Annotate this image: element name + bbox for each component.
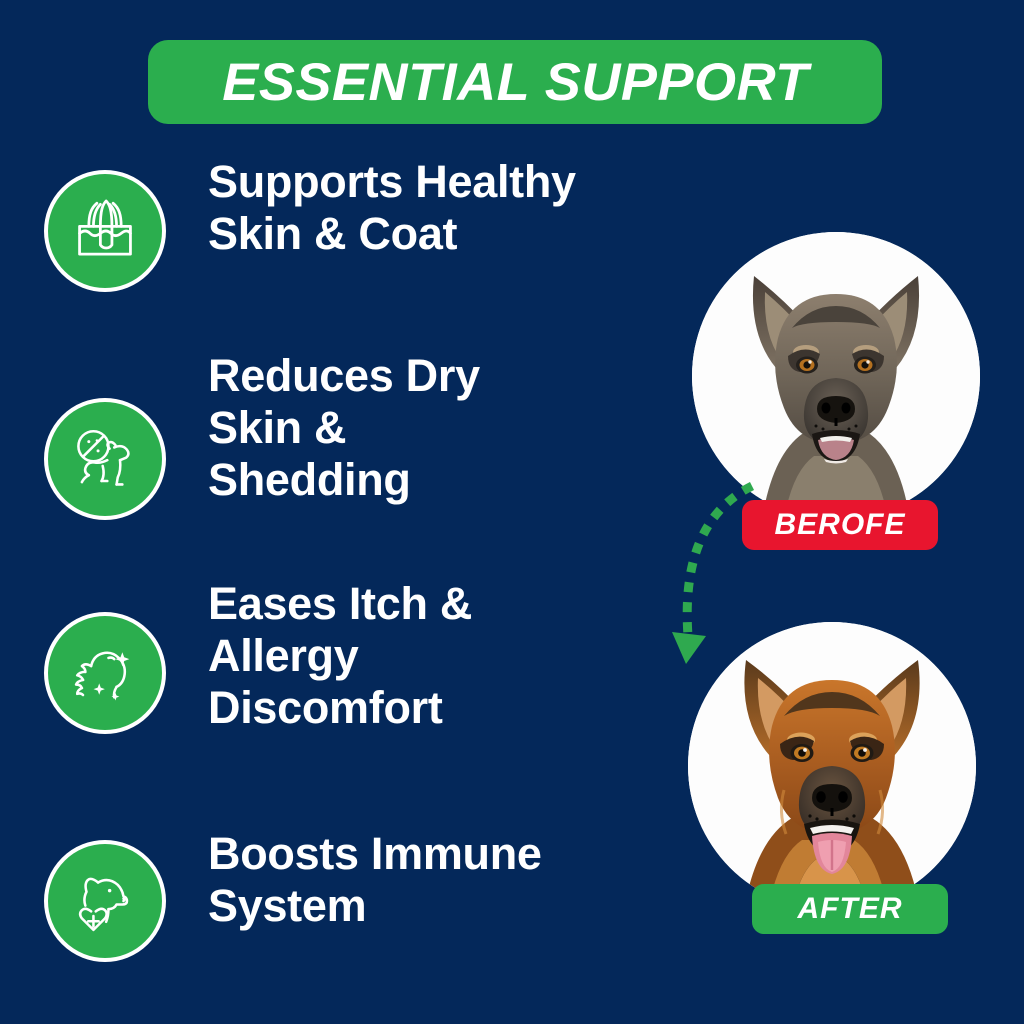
benefit-icon-wrap <box>44 170 166 292</box>
infographic-canvas: ESSENTIAL SUPPORT Supports Healthy Skin … <box>0 0 1024 1024</box>
page-title: ESSENTIAL SUPPORT <box>222 52 808 113</box>
benefit-line: Reduces Dry <box>208 350 724 402</box>
benefit-icon-wrap <box>44 398 166 520</box>
benefit-line: System <box>208 880 724 932</box>
benefit-line: Shedding <box>208 454 724 506</box>
benefit-line: Skin & <box>208 402 724 454</box>
benefit-label-skin-coat: Supports Healthy Skin & Coat <box>208 156 724 260</box>
after-badge-label: AFTER <box>798 892 903 926</box>
header-banner: ESSENTIAL SUPPORT <box>148 40 882 124</box>
benefit-line: Eases Itch & <box>208 578 724 630</box>
benefit-line: Skin & Coat <box>208 208 724 260</box>
hair-follicle-skin-icon <box>44 170 166 292</box>
benefit-line: Boosts Immune <box>208 828 724 880</box>
benefit-item-dry-skin-shedding: Reduces Dry Skin & Shedding <box>44 398 724 520</box>
sparkling-dog-head-icon <box>44 612 166 734</box>
dog-heart-plus-immune-icon <box>44 840 166 962</box>
benefit-icon-wrap <box>44 612 166 734</box>
benefit-icon-wrap <box>44 840 166 962</box>
benefit-line: Supports Healthy <box>208 156 724 208</box>
benefit-line: Allergy <box>208 630 724 682</box>
benefit-item-itch-allergy: Eases Itch & Allergy Discomfort <box>44 612 724 735</box>
before-badge-label: BEROFE <box>774 508 905 542</box>
after-photo-circle <box>688 622 976 910</box>
benefit-line: Discomfort <box>208 682 724 734</box>
benefit-label-dry-skin-shedding: Reduces Dry Skin & Shedding <box>208 350 724 507</box>
benefit-item-skin-coat: Supports Healthy Skin & Coat <box>44 170 724 292</box>
after-photo-block <box>688 622 976 910</box>
after-badge: AFTER <box>752 884 948 934</box>
no-shedding-scratching-dog-icon <box>44 398 166 520</box>
benefit-label-immune-system: Boosts Immune System <box>208 828 724 932</box>
german-shepherd-after-illustration <box>688 622 976 910</box>
benefit-label-itch-allergy: Eases Itch & Allergy Discomfort <box>208 578 724 735</box>
benefit-item-immune-system: Boosts Immune System <box>44 840 724 962</box>
